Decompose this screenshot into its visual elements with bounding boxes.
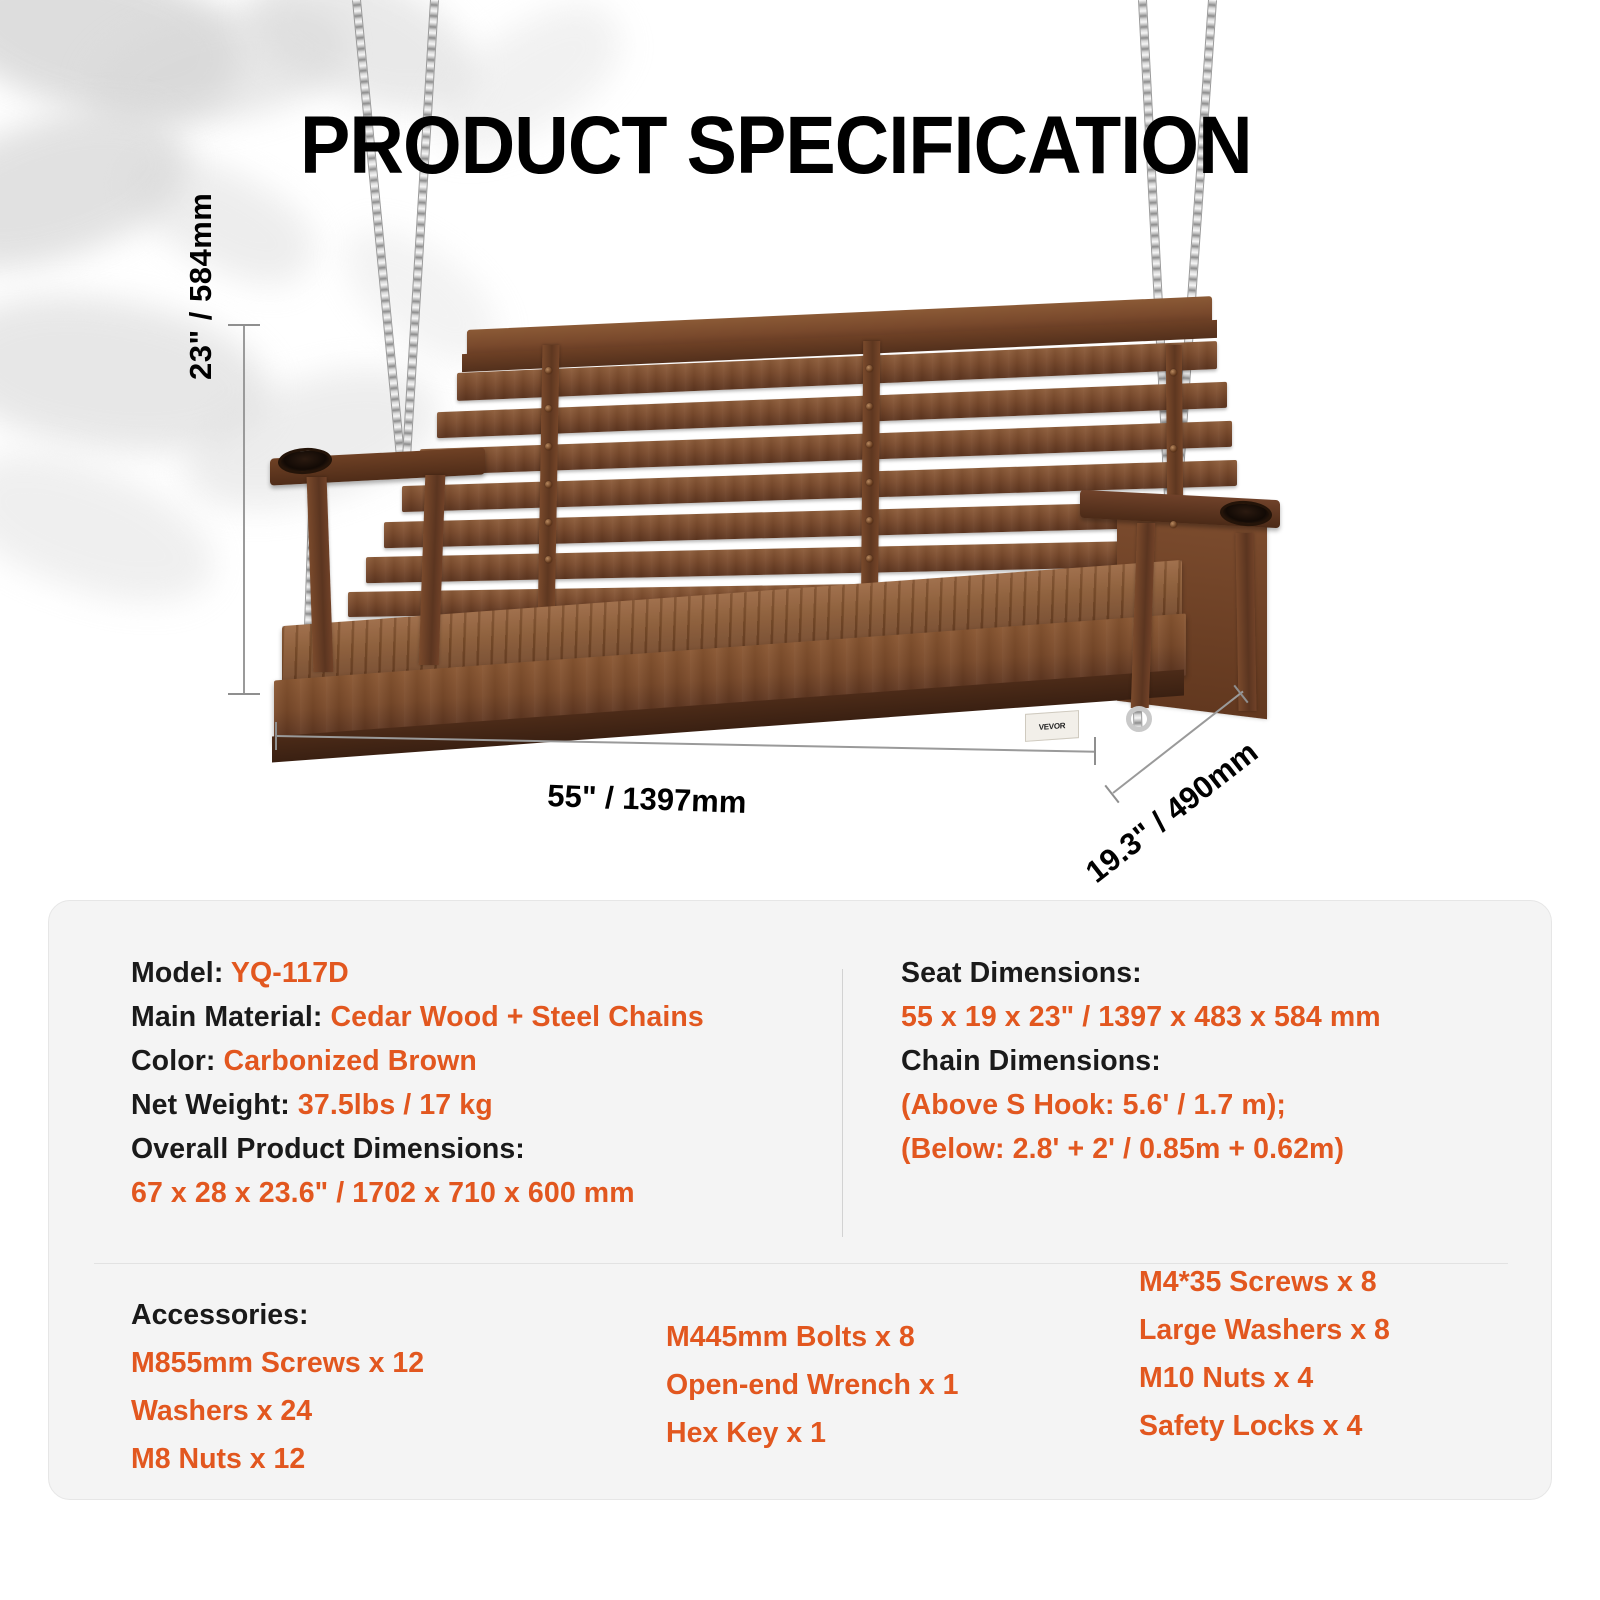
slat-screw bbox=[1170, 521, 1177, 528]
slat-screw bbox=[866, 555, 873, 562]
spec-row-overall-dimensions-value: 67 x 28 x 23.6" / 1702 x 710 x 600 mm bbox=[131, 1171, 831, 1215]
accessories-column-2: M445mm Bolts x 8 Open-end Wrench x 1 Hex… bbox=[666, 1313, 958, 1457]
slat-screw bbox=[545, 443, 552, 450]
slat-screw bbox=[866, 479, 873, 486]
spec-row-net-weight: Net Weight: 37.5lbs / 17 kg bbox=[131, 1083, 831, 1127]
slat-screw bbox=[545, 405, 552, 412]
accessory-item: M445mm Bolts x 8 bbox=[666, 1313, 958, 1361]
armrest-right-leg-front bbox=[1235, 533, 1256, 711]
spec-row-main-material: Main Material: Cedar Wood + Steel Chains bbox=[131, 995, 831, 1039]
slat-screw bbox=[866, 365, 873, 372]
dimension-tick-top bbox=[228, 324, 260, 326]
accessory-item: Open-end Wrench x 1 bbox=[666, 1361, 958, 1409]
slat-screw bbox=[545, 367, 552, 374]
dimension-tick-left bbox=[275, 722, 277, 750]
slat-screw bbox=[545, 481, 552, 488]
accessory-item: M10 Nuts x 4 bbox=[1139, 1354, 1390, 1402]
accessory-item: M4*35 Screws x 8 bbox=[1139, 1258, 1390, 1306]
slat-screw bbox=[866, 403, 873, 410]
slat-screw bbox=[1170, 445, 1177, 452]
spec-row-seat-dimensions-value: 55 x 19 x 23" / 1397 x 483 x 584 mm bbox=[901, 995, 1501, 1039]
spec-row-model: Model: YQ-117D bbox=[131, 951, 831, 995]
accessories-column-3: M4*35 Screws x 8 Large Washers x 8 M10 N… bbox=[1139, 1258, 1390, 1450]
accessory-item: Washers x 24 bbox=[131, 1387, 424, 1435]
accessories-column-1: Accessories: M855mm Screws x 12 Washers … bbox=[131, 1291, 424, 1483]
dimension-label-width: 55" / 1397mm bbox=[547, 778, 747, 821]
spec-value: Cedar Wood + Steel Chains bbox=[330, 1001, 703, 1033]
spec-value: 37.5lbs / 17 kg bbox=[298, 1089, 493, 1121]
specification-card: Model: YQ-117D Main Material: Cedar Wood… bbox=[48, 900, 1552, 1500]
slat-screw bbox=[545, 556, 552, 563]
spec-value: YQ-117D bbox=[231, 957, 349, 989]
accessory-item: Hex Key x 1 bbox=[666, 1409, 958, 1457]
spec-row-chain-dimensions-label: Chain Dimensions: bbox=[901, 1039, 1501, 1083]
slat-screw bbox=[866, 441, 873, 448]
spec-row-color: Color: Carbonized Brown bbox=[131, 1039, 831, 1083]
spec-row-overall-dimensions-label: Overall Product Dimensions: bbox=[131, 1127, 831, 1171]
s-hook-right bbox=[1126, 706, 1152, 732]
dimension-tick-bottom bbox=[228, 693, 260, 695]
spec-row-seat-dimensions-label: Seat Dimensions: bbox=[901, 951, 1501, 995]
spec-label: Model: bbox=[131, 957, 231, 989]
accessories-section: Accessories: M855mm Screws x 12 Washers … bbox=[49, 1263, 1551, 1501]
accessory-item: M8 Nuts x 12 bbox=[131, 1435, 424, 1483]
spec-column-right: Seat Dimensions: 55 x 19 x 23" / 1397 x … bbox=[901, 951, 1501, 1171]
specification-top-section: Model: YQ-117D Main Material: Cedar Wood… bbox=[49, 901, 1551, 1263]
dimension-line-vertical bbox=[243, 325, 245, 695]
accessory-item: Safety Locks x 4 bbox=[1139, 1402, 1390, 1450]
porch-swing-bench bbox=[262, 305, 1272, 755]
dimension-tick-right bbox=[1094, 737, 1096, 765]
accessory-item: Large Washers x 8 bbox=[1139, 1306, 1390, 1354]
spec-value: Carbonized Brown bbox=[224, 1045, 477, 1077]
dimension-label-height: 23" / 584mm bbox=[183, 80, 219, 380]
slat-screw bbox=[866, 517, 873, 524]
spec-column-left: Model: YQ-117D Main Material: Cedar Wood… bbox=[131, 951, 831, 1215]
spec-label: Net Weight: bbox=[131, 1089, 298, 1121]
vertical-divider bbox=[842, 969, 843, 1237]
spec-row-chain-below-hook: (Below: 2.8' + 2' / 0.85m + 0.62m) bbox=[901, 1127, 1501, 1171]
spec-label: Main Material: bbox=[131, 1001, 330, 1033]
slat-screw bbox=[545, 519, 552, 526]
accessory-item: M855mm Screws x 12 bbox=[131, 1339, 424, 1387]
page-title: PRODUCT SPECIFICATION bbox=[300, 103, 1220, 189]
vevor-brand-tag: VEVOR bbox=[1025, 710, 1079, 742]
spec-row-chain-above-hook: (Above S Hook: 5.6' / 1.7 m); bbox=[901, 1083, 1501, 1127]
slat-screw bbox=[1170, 369, 1177, 376]
spec-label: Color: bbox=[131, 1045, 224, 1077]
accessories-heading: Accessories: bbox=[131, 1291, 424, 1339]
